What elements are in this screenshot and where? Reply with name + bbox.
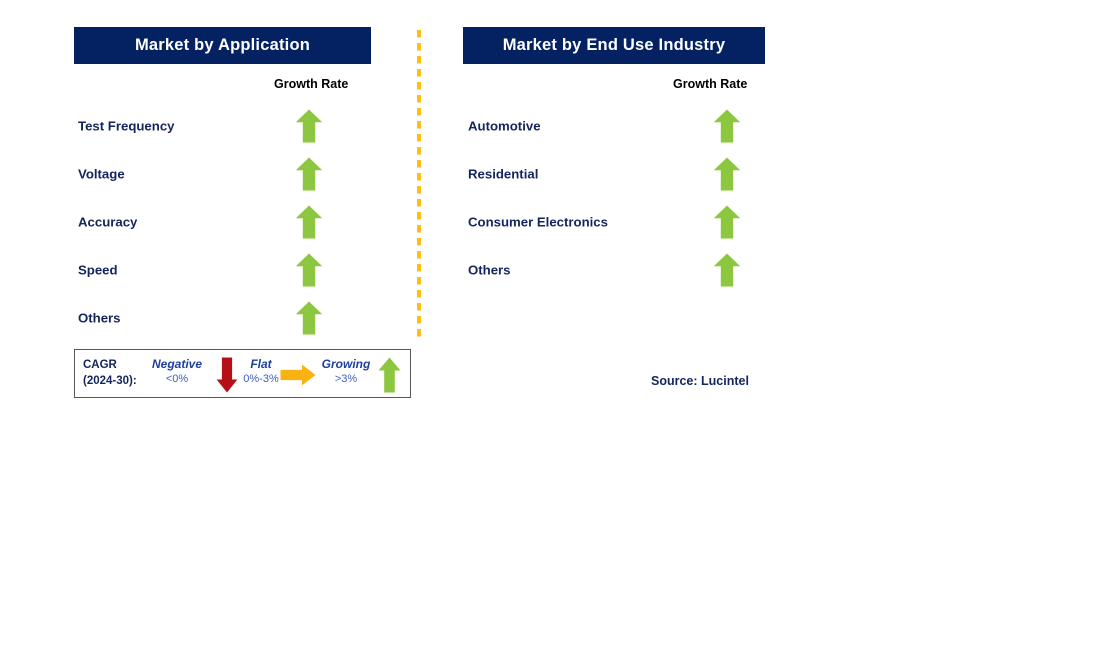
growth-rate-column-header-right: Growth Rate xyxy=(673,77,747,91)
list-item: Others xyxy=(78,296,378,340)
arrow-up-icon xyxy=(713,253,741,287)
segment-label: Others xyxy=(78,311,121,326)
segment-label: Consumer Electronics xyxy=(468,215,608,230)
list-item: Voltage xyxy=(78,152,378,196)
growth-rate-column-header-left: Growth Rate xyxy=(274,77,348,91)
list-item: Automotive xyxy=(468,104,768,148)
panel-title-left: Market by Application xyxy=(135,36,310,55)
list-item: Speed xyxy=(78,248,378,292)
panel-title-right: Market by End Use Industry xyxy=(503,36,726,55)
source-attribution: Source: Lucintel xyxy=(651,374,749,388)
arrow-up-icon xyxy=(378,357,401,393)
panel-divider-dashed-line xyxy=(417,30,421,342)
arrow-up-icon xyxy=(713,205,741,239)
arrow-up-icon xyxy=(295,301,323,335)
cagr-legend: CAGR (2024-30): Negative <0% Flat 0%-3% … xyxy=(74,349,411,398)
arrow-up-icon xyxy=(295,109,323,143)
arrow-up-icon xyxy=(295,205,323,239)
arrow-up-icon xyxy=(295,253,323,287)
legend-entry-negative: Negative <0% xyxy=(141,357,213,385)
segment-label: Others xyxy=(468,263,511,278)
list-item: Accuracy xyxy=(78,200,378,244)
segment-label: Voltage xyxy=(78,167,125,182)
list-item: Others xyxy=(468,248,768,292)
segment-label: Speed xyxy=(78,263,118,278)
infographic-canvas: Market by Application Market by End Use … xyxy=(0,0,1106,653)
arrow-up-icon xyxy=(713,109,741,143)
segment-label: Accuracy xyxy=(78,215,137,230)
legend-cagr-line2: (2024-30): xyxy=(83,373,137,389)
arrow-up-icon xyxy=(713,157,741,191)
panel-header-market-by-end-use-industry: Market by End Use Industry xyxy=(463,27,765,64)
segment-label: Test Frequency xyxy=(78,119,175,134)
arrow-up-icon xyxy=(295,157,323,191)
list-item: Test Frequency xyxy=(78,104,378,148)
segment-label: Residential xyxy=(468,167,538,182)
legend-entry-range: >3% xyxy=(307,373,385,385)
segment-label: Automotive xyxy=(468,119,541,134)
list-item: Consumer Electronics xyxy=(468,200,768,244)
legend-entry-title: Negative xyxy=(141,357,213,371)
legend-cagr-line1: CAGR xyxy=(83,357,137,373)
legend-entry-growing: Growing >3% xyxy=(307,357,385,385)
legend-cagr-label: CAGR (2024-30): xyxy=(83,357,137,389)
legend-entry-title: Growing xyxy=(307,357,385,371)
legend-entry-range: <0% xyxy=(141,373,213,385)
panel-header-market-by-application: Market by Application xyxy=(74,27,371,64)
list-item: Residential xyxy=(468,152,768,196)
